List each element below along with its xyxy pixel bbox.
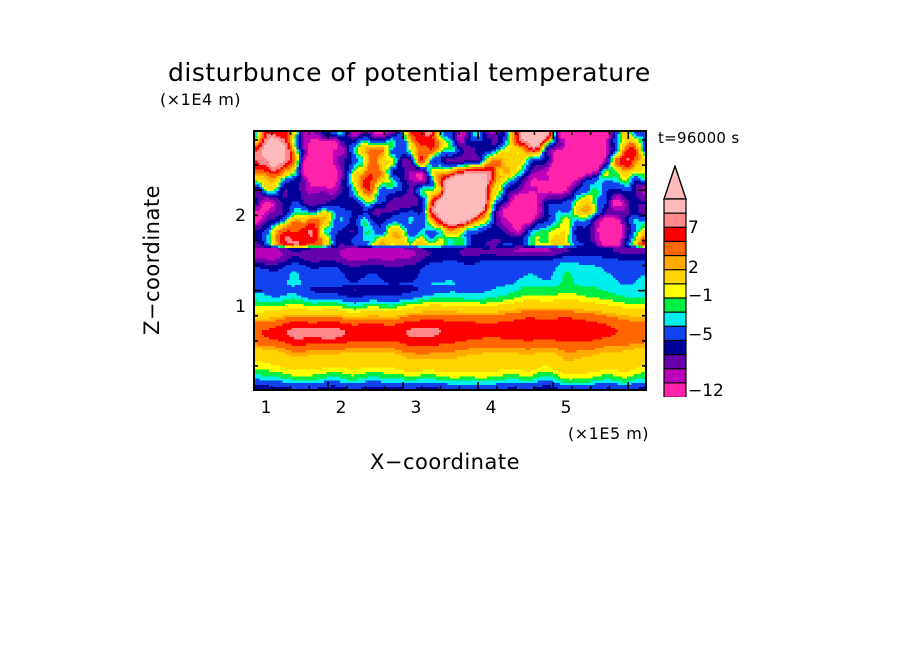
y-axis-title: Z−coordinate [140, 160, 164, 360]
x-tick-label-1: 1 [254, 398, 278, 418]
x-tick-label-4: 4 [479, 398, 503, 418]
figure-canvas: disturbunce of potential temperature (×1… [0, 0, 904, 654]
z-axis-unit-label: (×1E4 m) [160, 90, 241, 109]
colorbar[interactable] [660, 165, 690, 397]
contour-field [255, 132, 645, 389]
x-tick-label-5: 5 [554, 398, 578, 418]
colorbar-label-minus5: −5 [688, 325, 713, 345]
x-tick-label-3: 3 [404, 398, 428, 418]
y-tick-label-1: 1 [222, 297, 246, 317]
colorbar-label-minus1: −1 [688, 286, 713, 306]
x-tick-label-2: 2 [329, 398, 353, 418]
x-axis-title: X−coordinate [370, 450, 520, 474]
colorbar-label-minus12: −12 [688, 381, 724, 401]
x-axis-unit-label: (×1E5 m) [568, 424, 649, 443]
colorbar-label-7: 7 [688, 218, 699, 238]
timestamp-label: t=96000 s [658, 129, 739, 147]
y-tick-label-2: 2 [222, 206, 246, 226]
colorbar-label-2: 2 [688, 258, 699, 278]
page-title: disturbunce of potential temperature [168, 58, 651, 87]
contour-plot-area[interactable] [253, 130, 647, 391]
colorbar-swatches [660, 165, 690, 397]
